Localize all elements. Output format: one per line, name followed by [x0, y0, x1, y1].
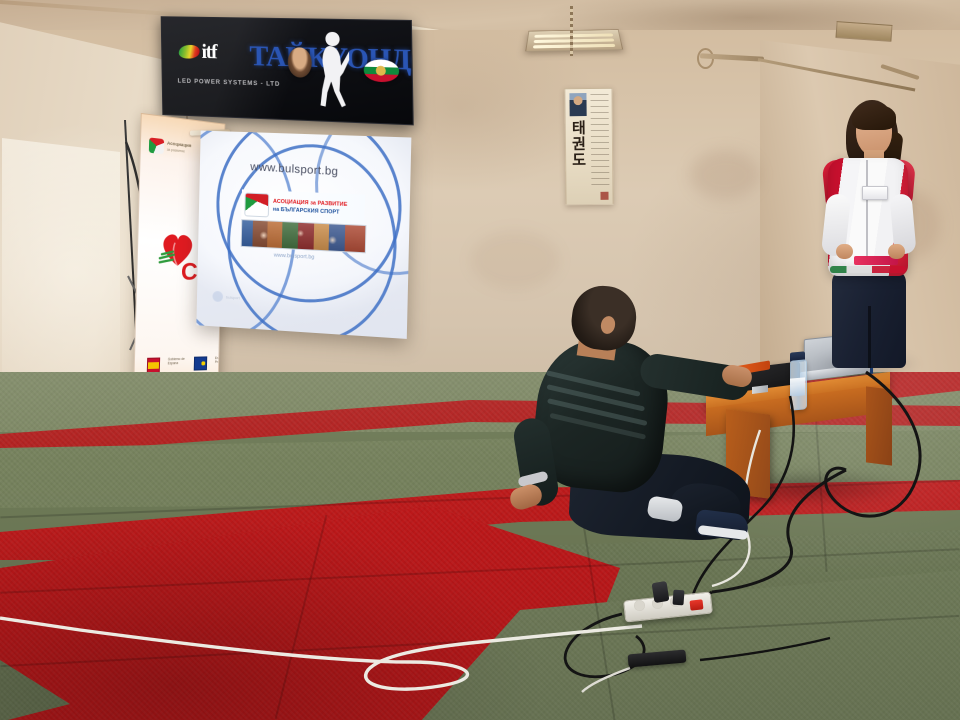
presenter-hair-front — [852, 104, 896, 130]
presenter-right-hand — [888, 244, 905, 259]
fluorescent-tube-fixture-icon — [525, 29, 623, 52]
hanging-chain-icon — [570, 6, 573, 56]
projection-screen: www.bulsport.bg АСОЦИАЦИЯ за РАЗВИТИЕ на… — [196, 131, 411, 339]
standing-presenter — [806, 98, 924, 370]
presenter-jacket-hem — [830, 266, 906, 273]
white-extension-cable — [0, 618, 642, 689]
itf-banner: itf ТАЙКУОНДО LED POWER SYSTEMS - LTD — [161, 16, 414, 125]
slide-footer-logo: bulsport — [212, 291, 240, 304]
banner-portrait-photo — [288, 47, 312, 78]
presenter-leg-seam — [868, 306, 871, 368]
power-cable — [826, 372, 920, 516]
taekwondo-wall-scroll: 태권도 — [564, 88, 613, 205]
footer-logo-text: bulsport — [226, 294, 240, 300]
wall-stain — [690, 150, 760, 200]
adapter-cable — [700, 638, 830, 660]
footer-logo-icon — [212, 291, 223, 302]
adapter-cable — [582, 668, 630, 692]
taekwondo-kick-silhouette-icon — [312, 30, 350, 110]
itf-swoosh-icon — [178, 44, 201, 58]
itf-logo-text: itf — [201, 41, 216, 62]
scroll-text-lines — [590, 94, 609, 190]
power-plug[interactable] — [652, 581, 670, 603]
slide-org-text: АСОЦИАЦИЯ за РАЗВИТИЕ на БЪЛГАРСКИЯ СПОР… — [273, 198, 348, 218]
hangul-text: 태권도 — [570, 121, 588, 169]
presenter-left-hand — [836, 244, 853, 259]
cable-layer — [0, 330, 960, 720]
association-mark-icon — [149, 137, 164, 154]
power-plug[interactable] — [672, 590, 684, 606]
power-strip-switch[interactable] — [690, 599, 704, 610]
slide-org-line2: на БЪЛГАРСКИЯ СПОРТ — [273, 207, 340, 216]
seated-participant — [500, 278, 750, 540]
red-seal-stamp-icon — [600, 192, 608, 200]
founder-portrait-photo — [569, 93, 586, 116]
org-logo-mark-icon — [244, 193, 269, 218]
presenter-jacket-zip — [866, 160, 868, 260]
cable-loop — [565, 614, 644, 677]
presenter-name-badge — [862, 186, 888, 200]
xbanner-top-label: Асоциация за развитие — [167, 141, 192, 155]
xbanner-top-line2: за развитие — [167, 148, 185, 154]
itf-logo: itf — [179, 41, 217, 62]
dojang-scene-photo: itf ТАЙКУОНДО LED POWER SYSTEMS - LTD Ас… — [0, 0, 960, 720]
